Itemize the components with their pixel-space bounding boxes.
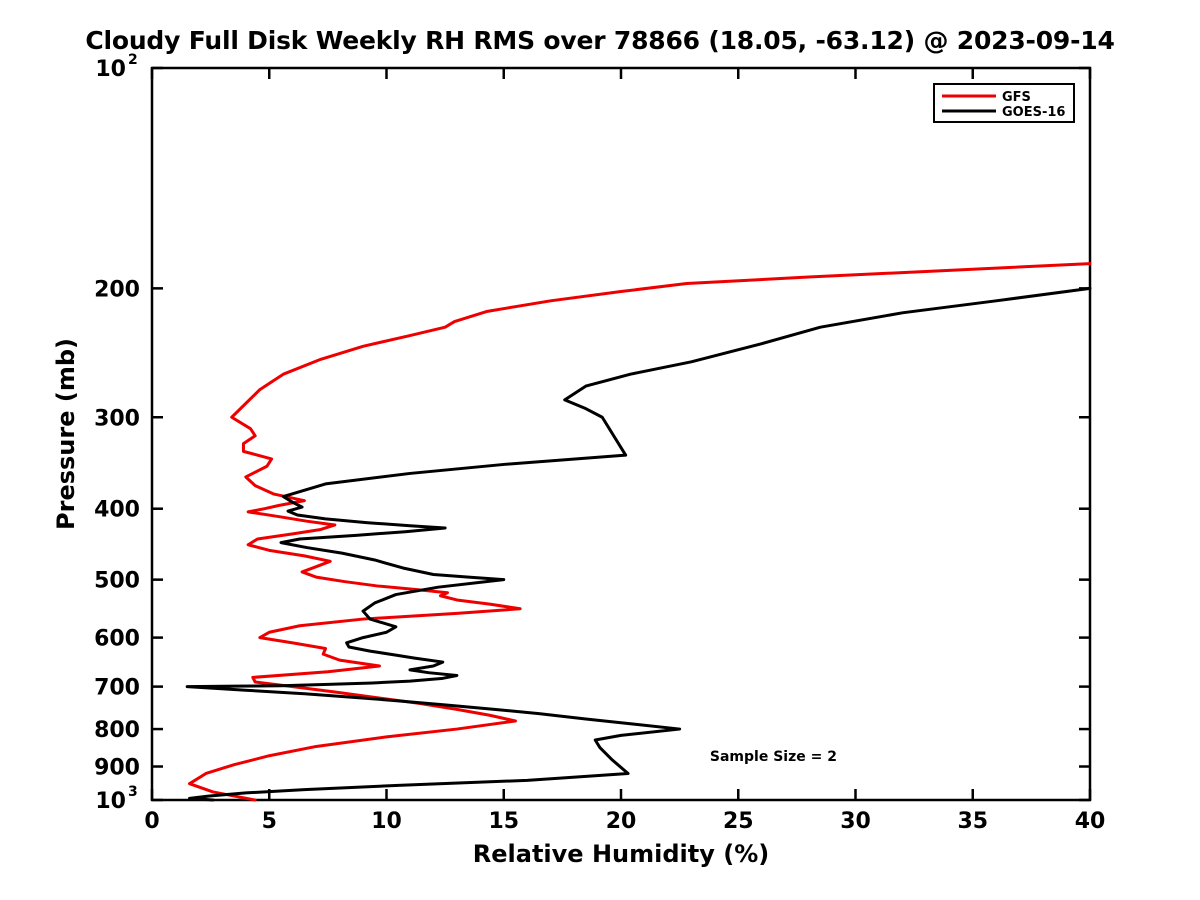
svg-text:700: 700 <box>94 676 140 701</box>
x-axis-tick-label: 0 <box>144 809 159 834</box>
y-axis-tick-label: 103 <box>95 784 137 814</box>
svg-text:300: 300 <box>94 406 140 431</box>
chart-plot-area: 0510152025303540102200300400500600700800… <box>0 0 1200 900</box>
x-axis-tick-label: 40 <box>1075 809 1106 834</box>
series-line-goes-16 <box>187 288 1090 800</box>
svg-text:3: 3 <box>128 784 138 800</box>
plot-frame <box>152 68 1090 800</box>
x-axis-tick-label: 5 <box>262 809 277 834</box>
legend-label-gfs: GFS <box>1002 90 1031 105</box>
y-axis-tick-label: 700 <box>94 676 140 701</box>
svg-text:2: 2 <box>128 52 138 68</box>
chart-annotations: Sample Size = 2 <box>710 749 837 765</box>
svg-text:10: 10 <box>95 57 126 82</box>
legend-label-goes-16: GOES-16 <box>1002 105 1065 120</box>
y-axis-tick-label: 102 <box>95 52 137 82</box>
svg-text:900: 900 <box>94 756 140 781</box>
x-axis-tick-label: 10 <box>371 809 402 834</box>
svg-text:500: 500 <box>94 569 140 594</box>
data-series-group <box>187 264 1090 800</box>
x-axis-tick-label: 15 <box>488 809 519 834</box>
x-axis-title: Relative Humidity (%) <box>473 840 769 868</box>
y-axis-tick-label: 600 <box>94 627 140 652</box>
x-axis-tick-label: 30 <box>840 809 871 834</box>
y-axis-tick-label: 500 <box>94 569 140 594</box>
svg-text:200: 200 <box>94 277 140 302</box>
chart-legend: GFSGOES-16 <box>934 84 1074 122</box>
sample-size-annotation: Sample Size = 2 <box>710 749 837 765</box>
y-axis-tick-label: 400 <box>94 498 140 523</box>
x-axis-tick-label: 25 <box>723 809 754 834</box>
svg-text:10: 10 <box>95 789 126 814</box>
y-axis-tick-label: 200 <box>94 277 140 302</box>
y-axis-title: Pressure (mb) <box>52 338 80 530</box>
series-line-gfs <box>190 264 1090 800</box>
y-axis-tick-label: 800 <box>94 718 140 743</box>
y-axis-tick-label: 300 <box>94 406 140 431</box>
x-axis-tick-label: 35 <box>957 809 988 834</box>
svg-text:400: 400 <box>94 498 140 523</box>
svg-text:800: 800 <box>94 718 140 743</box>
y-axis-tick-label: 900 <box>94 756 140 781</box>
x-axis-tick-label: 20 <box>606 809 637 834</box>
svg-text:600: 600 <box>94 627 140 652</box>
chart-page: Cloudy Full Disk Weekly RH RMS over 7886… <box>0 0 1200 900</box>
